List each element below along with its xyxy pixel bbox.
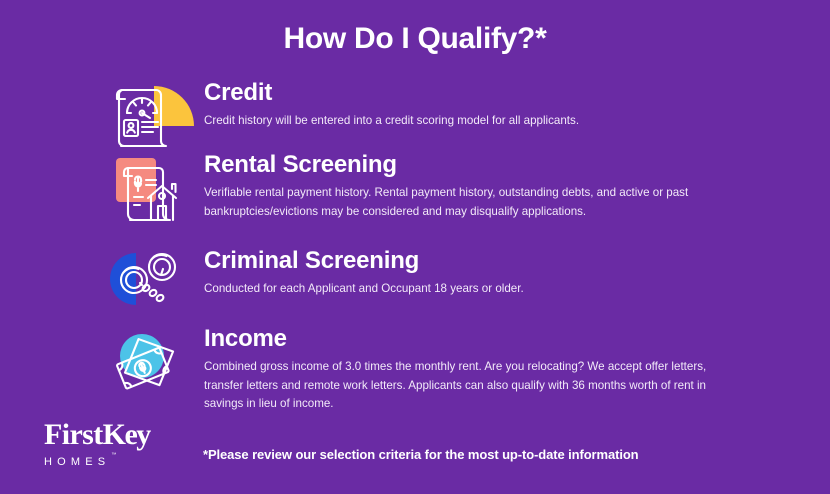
banknotes-dollar-icon: [110, 326, 196, 402]
logo-subtext: HOMES™: [44, 456, 115, 468]
section-heading-criminal-screening: Criminal Screening: [204, 248, 524, 274]
selection-criteria-footnote: *Please review our selection criteria fo…: [203, 447, 639, 462]
page-title: How Do I Qualify?*: [0, 22, 830, 55]
trademark-icon: ™: [111, 452, 116, 458]
section-income: Income Combined gross income of 3.0 time…: [0, 326, 830, 414]
section-credit: Credit Credit history will be entered in…: [0, 80, 830, 152]
credit-report-gauge-icon: [110, 80, 196, 152]
logo-subtext-label: HOMES: [44, 456, 110, 468]
section-body-income: Combined gross income of 3.0 times the m…: [204, 358, 724, 414]
section-body-criminal-screening: Conducted for each Applicant and Occupan…: [204, 280, 524, 299]
criminal-text-block: Criminal Screening Conducted for each Ap…: [196, 248, 524, 299]
logo-word-first: First: [44, 418, 103, 451]
rental-invoice-house-icon: [110, 152, 196, 230]
qualification-poster: How Do I Qualify?*: [0, 0, 830, 494]
handcuffs-icon: [110, 248, 196, 310]
logo-word-key: Key: [103, 418, 150, 451]
section-heading-income: Income: [204, 326, 724, 352]
section-heading-rental-screening: Rental Screening: [204, 152, 724, 178]
firstkey-homes-logo: FirstKey HOMES™: [44, 420, 204, 470]
section-body-credit: Credit history will be entered into a cr…: [204, 112, 579, 131]
rental-text-block: Rental Screening Verifiable rental payme…: [196, 152, 724, 221]
logo-wordmark: FirstKey: [44, 420, 204, 450]
section-heading-credit: Credit: [204, 80, 579, 106]
section-body-rental-screening: Verifiable rental payment history. Renta…: [204, 184, 724, 222]
credit-text-block: Credit Credit history will be entered in…: [196, 80, 579, 131]
section-criminal-screening: Criminal Screening Conducted for each Ap…: [0, 248, 830, 310]
income-text-block: Income Combined gross income of 3.0 time…: [196, 326, 724, 414]
section-rental-screening: Rental Screening Verifiable rental payme…: [0, 152, 830, 230]
